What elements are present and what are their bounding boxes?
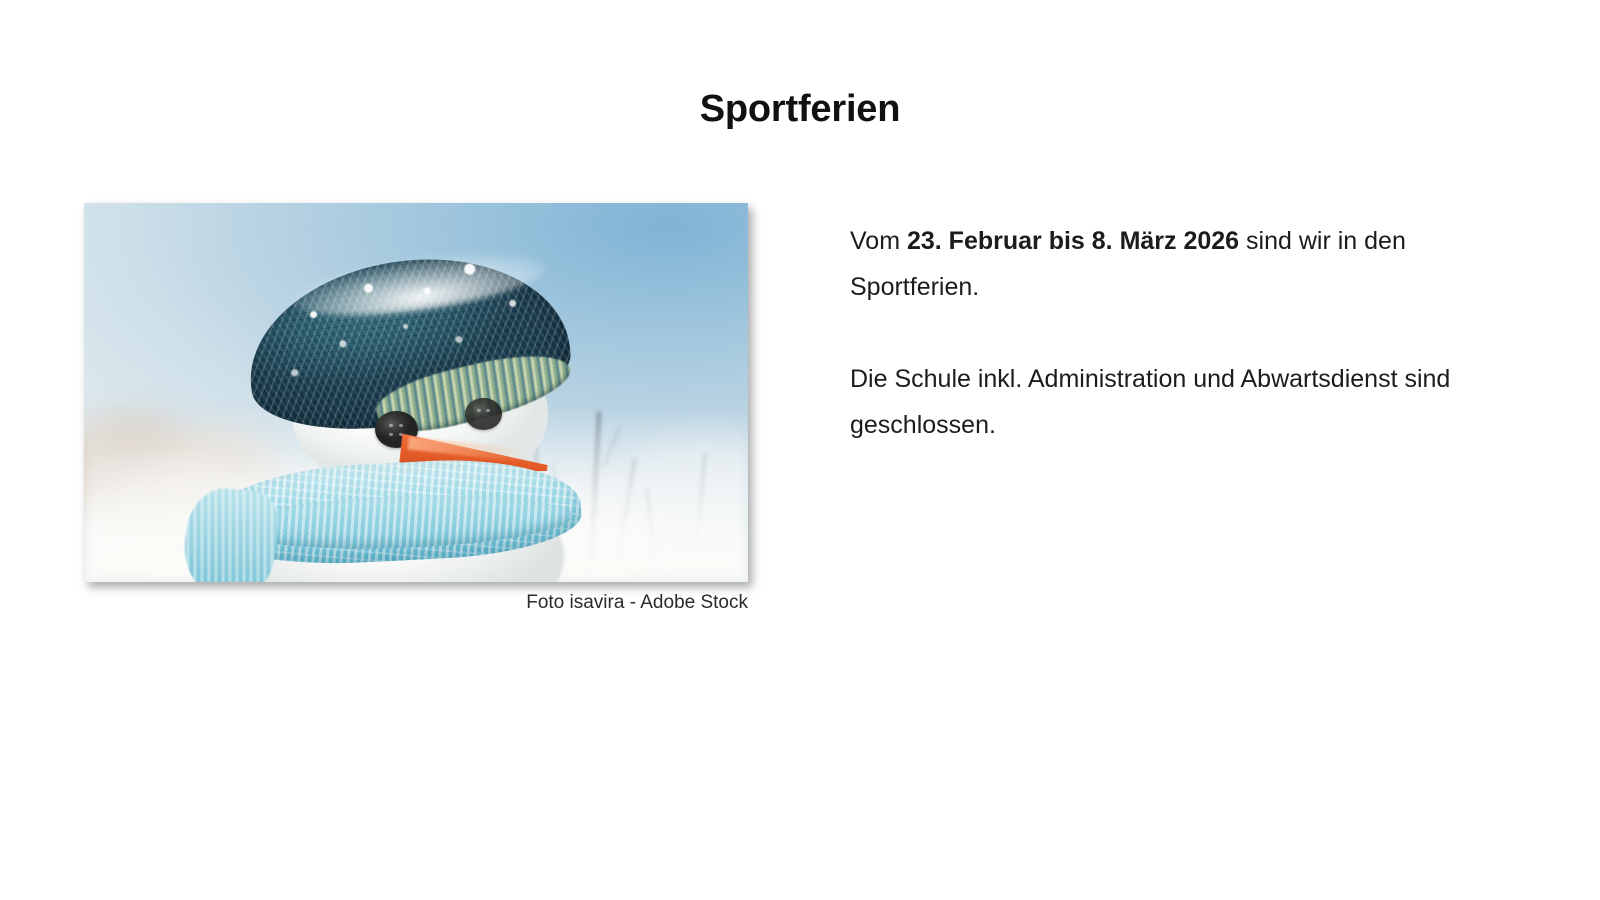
snowman-figure — [210, 267, 622, 582]
button-hole — [399, 424, 403, 428]
photo-figure: Foto isavira - Adobe Stock — [84, 203, 748, 615]
button-hole — [389, 424, 393, 428]
body-text-column: Vom 23. Februar bis 8. März 2026 sind wi… — [850, 218, 1480, 448]
page-title: Sportferien — [0, 89, 1600, 131]
paragraph-holiday-dates: Vom 23. Februar bis 8. März 2026 sind wi… — [850, 218, 1480, 310]
holiday-date-range: 23. Februar bis 8. März 2026 — [907, 227, 1239, 255]
paragraph-school-closed: Die Schule inkl. Administration und Abwa… — [850, 356, 1480, 448]
paragraph-lead: Die Schule inkl. Administration und Abwa… — [850, 365, 1450, 439]
snowman-photo — [84, 203, 748, 582]
photo-frame[interactable] — [84, 203, 748, 582]
photo-caption: Foto isavira - Adobe Stock — [84, 591, 748, 615]
button-hole — [477, 409, 481, 412]
paragraph-lead: Vom — [850, 227, 907, 255]
slide-page: { "page": { "title": "Sportferien", "bac… — [0, 0, 1600, 900]
button-hole — [486, 409, 490, 412]
button-hole — [389, 433, 393, 437]
